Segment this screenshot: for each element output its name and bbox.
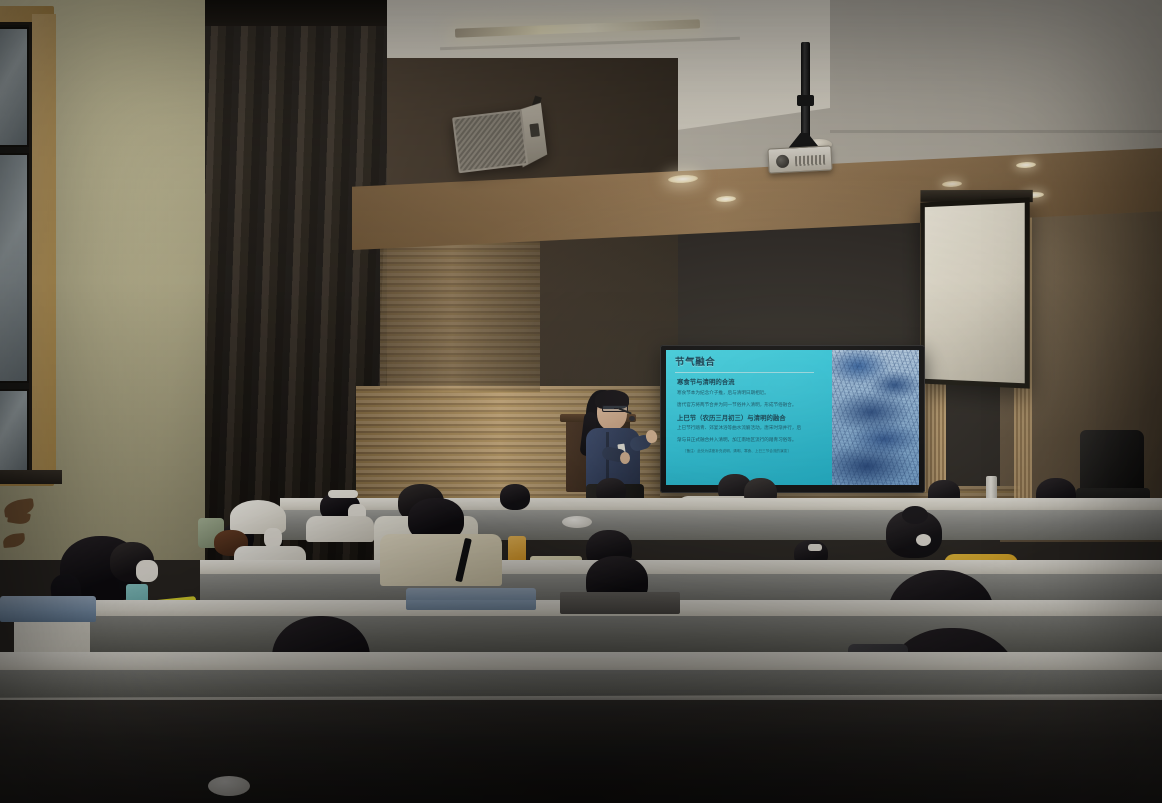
window-sash	[0, 22, 32, 474]
headset-microphone-icon	[618, 410, 633, 421]
hair-tie	[916, 534, 931, 546]
speaker-logo	[529, 123, 540, 137]
chair-back	[1080, 430, 1144, 492]
slide-footnote: ［备注：此处为讲座补充说明，清明、寒食、上巳三节合流的演变］	[683, 449, 826, 454]
presenter-left-hand	[620, 452, 630, 464]
projector-mount-pole	[801, 42, 810, 138]
foreground-desk	[0, 700, 1162, 803]
slide-artwork-landscape-painting	[832, 350, 919, 485]
slide-section-1-heading: 寒食节与清明的合流	[677, 379, 826, 387]
window-pane	[0, 389, 29, 473]
seat-cushion	[406, 588, 536, 610]
hair-bun	[902, 506, 928, 524]
slide-canvas: 节气融合 寒食节与清明的合流 寒食节本为纪念介子推，后与清明日期相近。 唐代官方…	[666, 350, 919, 485]
slide-section-2-line-2: 渐与日正式融合并入清明，加江南地区流行的踏青习俗等。	[677, 436, 826, 443]
projector	[767, 145, 832, 173]
window-pane	[0, 27, 29, 147]
face-mask	[264, 528, 282, 548]
slide-section-1-line-2: 唐代官方将两节合并为同一节俗并入清明，形成节俗融合。	[677, 401, 826, 408]
cup-lid	[562, 516, 592, 528]
seat-back	[560, 592, 680, 614]
presentation-display[interactable]: 节气融合 寒食节与清明的合流 寒食节本为纪念介子推，后与清明日期相近。 唐代官方…	[660, 345, 925, 493]
projector-mount-joint	[797, 95, 814, 106]
slide-section-2-heading: 上巳节（农历三月初三）与清明的融合	[677, 413, 826, 422]
window-sill	[0, 470, 62, 484]
window-pane	[0, 153, 29, 383]
slide-title: 节气融合	[675, 358, 826, 368]
slide-text-column: 节气融合 寒食节与清明的合流 寒食节本为纪念介子推，后与清明日期相近。 唐代官方…	[666, 350, 832, 485]
projection-screen[interactable]	[920, 197, 1029, 388]
speaker-grille-icon	[452, 109, 528, 173]
projector-vent-icon	[795, 155, 825, 167]
slide-title-rule	[675, 372, 814, 373]
audience-torso-beige	[380, 534, 502, 586]
bottle-cap	[208, 776, 250, 796]
lecture-hall-photo: 节气融合 寒食节与清明的合流 寒食节本为纪念介子推，后与清明日期相近。 唐代官方…	[0, 0, 1162, 803]
loudspeaker	[452, 103, 549, 176]
slide-section-2-line-1: 上巳节行踏青、郊宴沐浴等曲水流觞活动，唐宋时渐并行，后	[677, 424, 826, 431]
slide-section-1-line-1: 寒食节本为纪念介子推，后与清明日期相近。	[677, 389, 826, 396]
hair-clip	[808, 544, 822, 551]
window-reveal	[32, 14, 56, 482]
face-mask	[136, 560, 158, 582]
hair-band	[328, 490, 358, 498]
ceiling-groove-secondary	[830, 130, 1162, 133]
audience-head	[500, 484, 530, 510]
projection-screen-surface	[925, 203, 1025, 384]
seat-cushion	[0, 596, 96, 622]
audience-torso	[306, 516, 374, 542]
curtain-track	[205, 0, 387, 26]
projector-lens-icon	[776, 155, 790, 169]
wall-ornament	[2, 498, 42, 564]
